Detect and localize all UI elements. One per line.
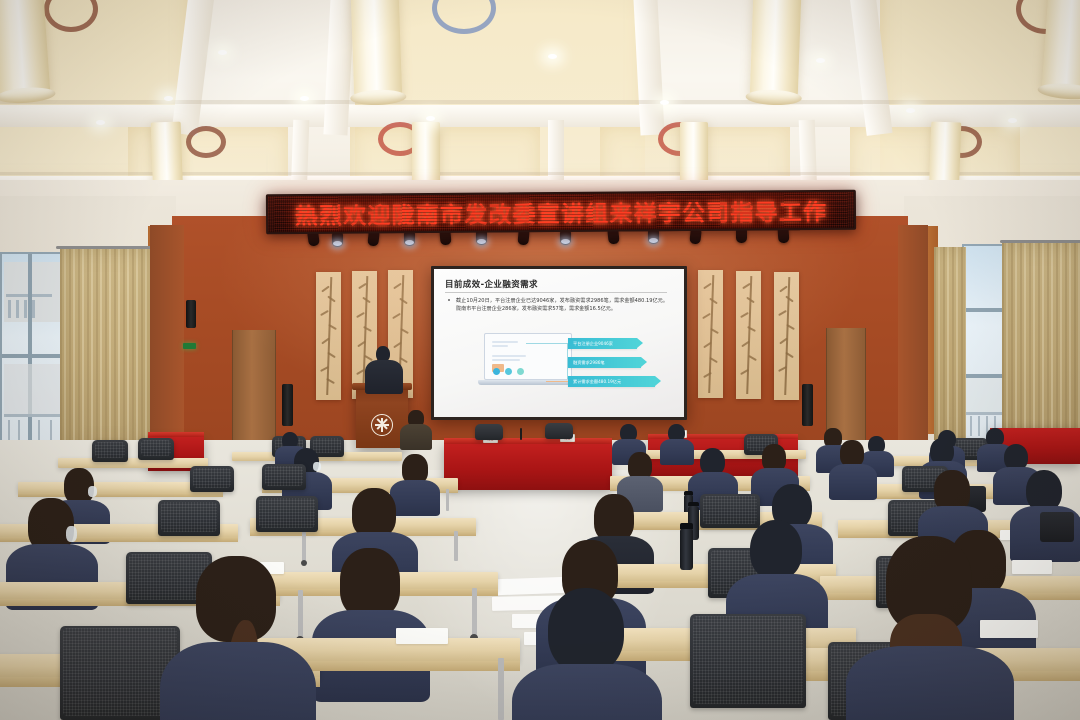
water-bottle — [680, 528, 693, 570]
document-on-desk — [396, 628, 448, 644]
deco-panel — [736, 271, 761, 399]
door-left[interactable] — [232, 330, 276, 442]
pendant-lamp — [0, 0, 50, 98]
projection-screen: 目前成效-企业融资需求 截止10月20日，平台注册企业已达9046家，发布融资需… — [434, 269, 684, 417]
slide-callout: 累计需求金额480.19亿元 — [568, 376, 655, 387]
chair — [700, 494, 760, 528]
chair — [138, 438, 174, 460]
chair — [256, 496, 318, 532]
deco-panel — [316, 272, 341, 400]
stage-wall-left-return — [150, 225, 184, 440]
head-table-chair — [545, 423, 573, 439]
callout-label: 平台注册企业9046家 — [573, 341, 613, 347]
curtain-left[interactable] — [60, 249, 152, 449]
window-right — [962, 244, 1006, 448]
exit-sign — [183, 343, 196, 349]
wall-speaker-far-left — [186, 300, 196, 328]
chair — [158, 500, 220, 536]
chair — [690, 614, 806, 708]
chair — [262, 464, 306, 490]
stage-spotlight — [332, 232, 343, 247]
deco-panel — [698, 270, 723, 398]
stage-spotlight — [560, 230, 571, 245]
pendant-lamp — [1042, 0, 1080, 94]
curtain-right-outer[interactable] — [1002, 243, 1080, 448]
led-banner-text: 热烈欢迎陇南市发改委宣讲组来祥宇公司指导工作 — [268, 193, 854, 232]
door-right[interactable] — [826, 328, 866, 440]
conference-hall-photo: 热烈欢迎陇南市发改委宣讲组来祥宇公司指导工作 目前成效-企业融资需求 截止10月… — [0, 0, 1080, 720]
slide-divider — [445, 292, 667, 293]
company-emblem-icon — [371, 414, 393, 436]
head-table-chair — [475, 424, 503, 440]
chair — [92, 440, 128, 462]
slide-body-text: 截止10月20日，平台注册企业已达9046家，发布融资需求2986笔，需求金额4… — [456, 297, 668, 314]
callout-label: 融资需求2986笔 — [573, 360, 605, 366]
stage-spotlight — [404, 231, 415, 246]
curtain-right-inner[interactable] — [934, 247, 966, 443]
pendant-lamp — [350, 0, 403, 99]
head-table — [444, 444, 612, 490]
deco-panel — [774, 272, 799, 400]
laptop-illustration — [478, 333, 576, 385]
ceiling — [0, 0, 1080, 196]
slide-bullet — [448, 299, 450, 301]
slide-title: 目前成效-企业融资需求 — [445, 278, 538, 290]
document-on-desk — [980, 620, 1038, 638]
callout-label: 累计需求金额480.19亿元 — [573, 379, 621, 385]
pendant-lamp — [750, 0, 803, 99]
document-on-desk — [1012, 560, 1052, 574]
projection-screen-frame: 目前成效-企业融资需求 截止10月20日，平台注册企业已达9046家，发布融资需… — [431, 266, 687, 420]
slide-callout: 融资需求2986笔 — [568, 357, 641, 368]
desk-row-far-left — [58, 458, 208, 468]
handbag — [1040, 512, 1074, 542]
stage-wall-right-return — [898, 225, 928, 440]
table-microphone — [520, 428, 522, 440]
wall-speaker-left — [282, 384, 293, 426]
slide-callout: 平台注册企业9046家 — [568, 338, 637, 349]
chair — [190, 466, 234, 492]
wall-speaker-right — [802, 384, 813, 426]
welcome-led-banner: 热烈欢迎陇南市发改委宣讲组来祥宇公司指导工作 — [266, 190, 856, 235]
window-left — [0, 252, 66, 464]
